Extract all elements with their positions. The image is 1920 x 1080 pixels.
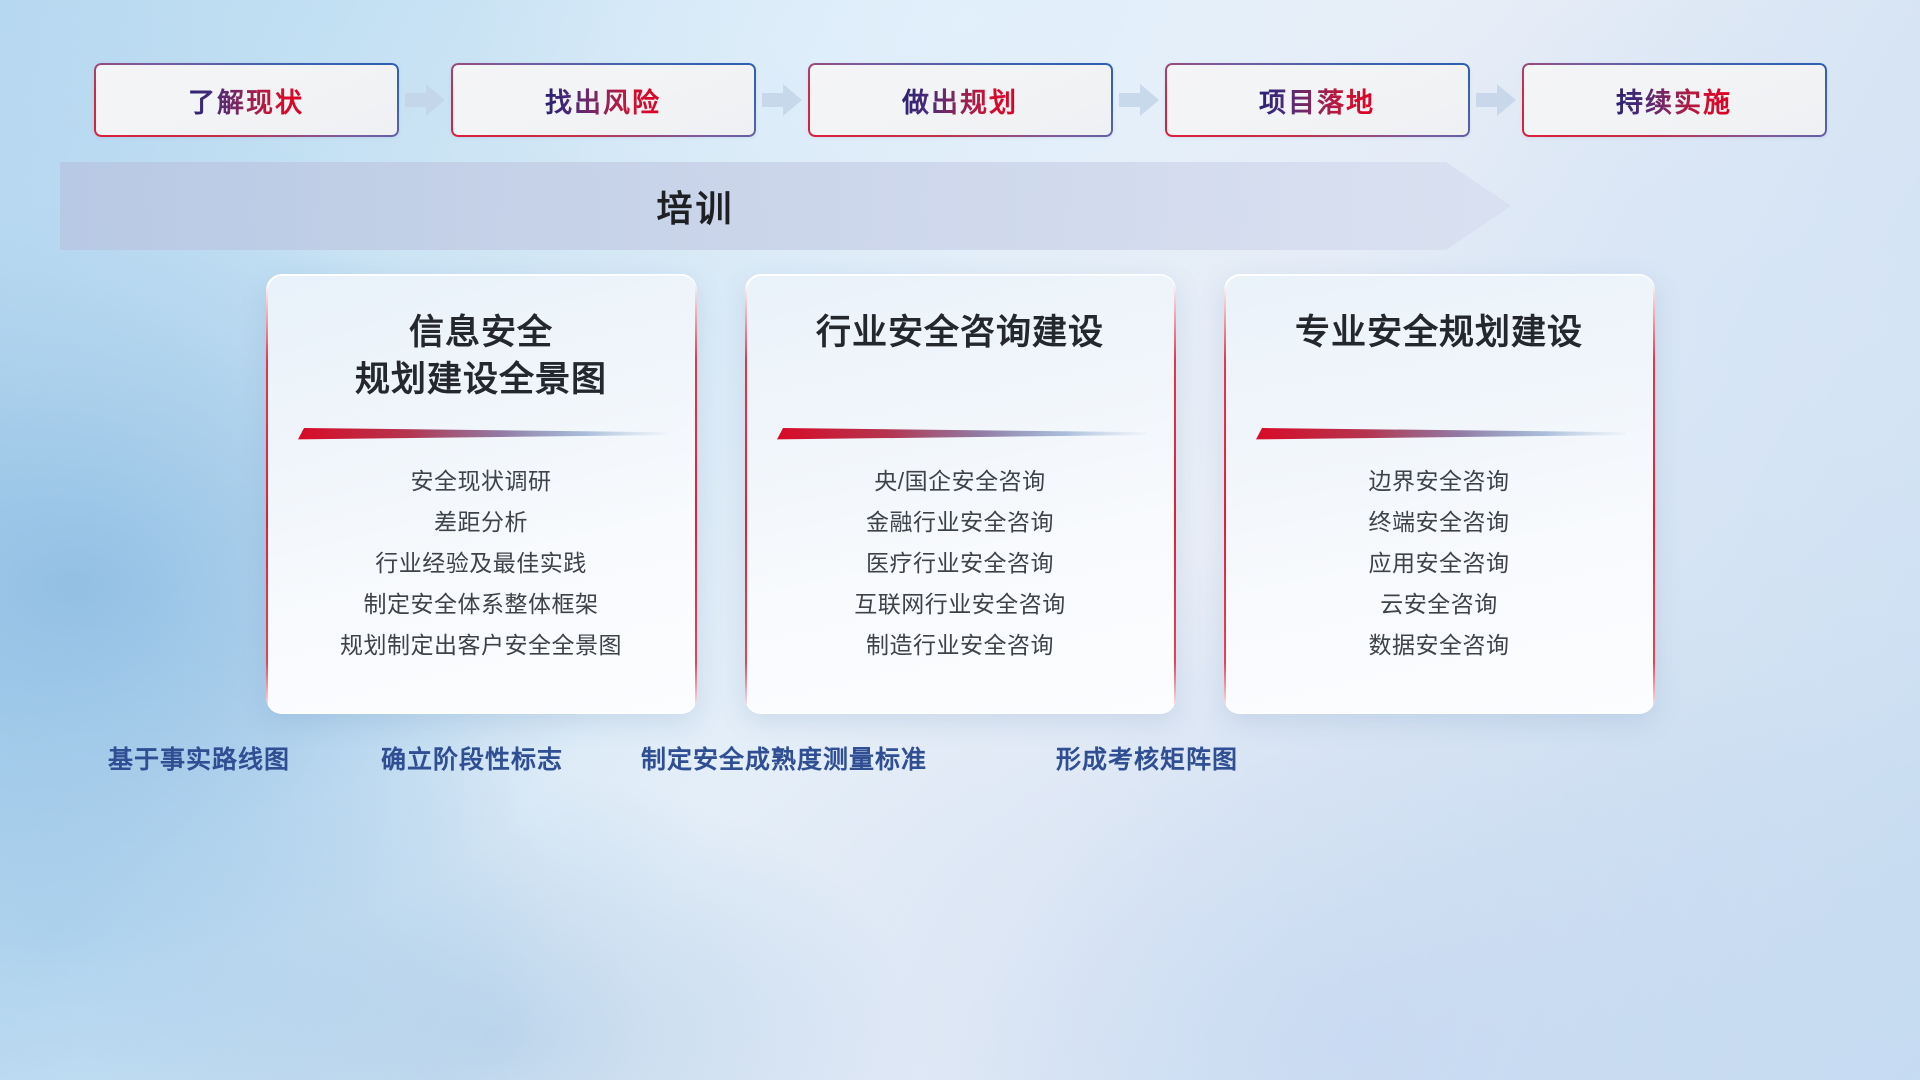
outcome-label-1: 基于事实路线图 xyxy=(108,740,290,776)
card-header: 专业安全规划建设 xyxy=(1224,310,1655,357)
gradient-divider-icon xyxy=(296,426,668,442)
card-header: 信息安全 规划建设全景图 xyxy=(266,310,697,403)
process-step-label: 找出风险 xyxy=(545,81,661,120)
arrow-right-icon xyxy=(756,63,808,137)
process-step-label: 做出规划 xyxy=(902,81,1018,120)
card-list-item[interactable]: 互联网行业安全咨询 xyxy=(745,593,1176,616)
process-step-3[interactable]: 做出规划 xyxy=(808,63,1113,137)
process-step-5[interactable]: 持续实施 xyxy=(1522,63,1827,137)
process-step-2[interactable]: 找出风险 xyxy=(451,63,756,137)
card-accent-rail-left xyxy=(266,282,268,714)
card-list-item[interactable]: 边界安全咨询 xyxy=(1224,470,1655,493)
card-list-item[interactable]: 制定安全体系整体框架 xyxy=(266,593,697,616)
process-step-label: 项目落地 xyxy=(1259,81,1375,120)
service-card-3[interactable]: 专业安全规划建设边界安全咨询终端安全咨询应用安全咨询云安全咨询数据安全咨询 xyxy=(1224,274,1655,714)
card-accent-rail-left xyxy=(1224,282,1226,714)
outcome-label-3: 制定安全成熟度测量标准 xyxy=(641,740,927,776)
card-list-item[interactable]: 制造行业安全咨询 xyxy=(745,634,1176,657)
card-item-list: 央/国企安全咨询金融行业安全咨询医疗行业安全咨询互联网行业安全咨询制造行业安全咨… xyxy=(745,470,1176,657)
card-list-item[interactable]: 央/国企安全咨询 xyxy=(745,470,1176,493)
arrow-right-icon xyxy=(1113,63,1165,137)
outcome-label-row: 基于事实路线图确立阶段性标志制定安全成熟度测量标准形成考核矩阵图 xyxy=(0,740,1920,786)
process-step-label: 持续实施 xyxy=(1616,81,1732,120)
card-list-item[interactable]: 规划制定出客户安全全景图 xyxy=(266,634,697,657)
card-list-item[interactable]: 应用安全咨询 xyxy=(1224,552,1655,575)
service-card-2[interactable]: 行业安全咨询建设央/国企安全咨询金融行业安全咨询医疗行业安全咨询互联网行业安全咨… xyxy=(745,274,1176,714)
card-list-item[interactable]: 数据安全咨询 xyxy=(1224,634,1655,657)
arrow-right-icon xyxy=(399,63,451,137)
card-list-item[interactable]: 金融行业安全咨询 xyxy=(745,511,1176,534)
card-title: 行业安全咨询建设 xyxy=(763,310,1158,357)
process-step-4[interactable]: 项目落地 xyxy=(1165,63,1470,137)
card-list-item[interactable]: 差距分析 xyxy=(266,511,697,534)
right-chevron-band-icon xyxy=(60,162,1511,250)
card-accent-rail-left xyxy=(745,282,747,714)
process-step-row: 了解现状找出风险做出规划项目落地持续实施 xyxy=(0,63,1920,137)
outcome-label-2: 确立阶段性标志 xyxy=(381,740,563,776)
gradient-divider-icon xyxy=(775,426,1147,442)
service-card-1[interactable]: 信息安全 规划建设全景图安全现状调研差距分析行业经验及最佳实践制定安全体系整体框… xyxy=(266,274,697,714)
arrow-right-icon xyxy=(1470,63,1522,137)
card-accent-rail-right xyxy=(1174,282,1176,714)
card-accent-rail-right xyxy=(695,282,697,714)
card-list-item[interactable]: 云安全咨询 xyxy=(1224,593,1655,616)
process-step-1[interactable]: 了解现状 xyxy=(94,63,399,137)
outcome-label-4: 形成考核矩阵图 xyxy=(1056,740,1238,776)
card-list-item[interactable]: 医疗行业安全咨询 xyxy=(745,552,1176,575)
gradient-divider-icon xyxy=(1254,426,1626,442)
card-accent-rail-right xyxy=(1653,282,1655,714)
training-band xyxy=(60,162,1511,250)
card-title: 信息安全 规划建设全景图 xyxy=(284,310,679,403)
card-item-list: 边界安全咨询终端安全咨询应用安全咨询云安全咨询数据安全咨询 xyxy=(1224,470,1655,657)
card-row: 信息安全 规划建设全景图安全现状调研差距分析行业经验及最佳实践制定安全体系整体框… xyxy=(0,274,1920,714)
card-title: 专业安全规划建设 xyxy=(1242,310,1637,357)
process-step-label: 了解现状 xyxy=(188,81,304,120)
card-list-item[interactable]: 安全现状调研 xyxy=(266,470,697,493)
card-list-item[interactable]: 行业经验及最佳实践 xyxy=(266,552,697,575)
card-list-item[interactable]: 终端安全咨询 xyxy=(1224,511,1655,534)
card-header: 行业安全咨询建设 xyxy=(745,310,1176,357)
card-item-list: 安全现状调研差距分析行业经验及最佳实践制定安全体系整体框架规划制定出客户安全全景… xyxy=(266,470,697,657)
